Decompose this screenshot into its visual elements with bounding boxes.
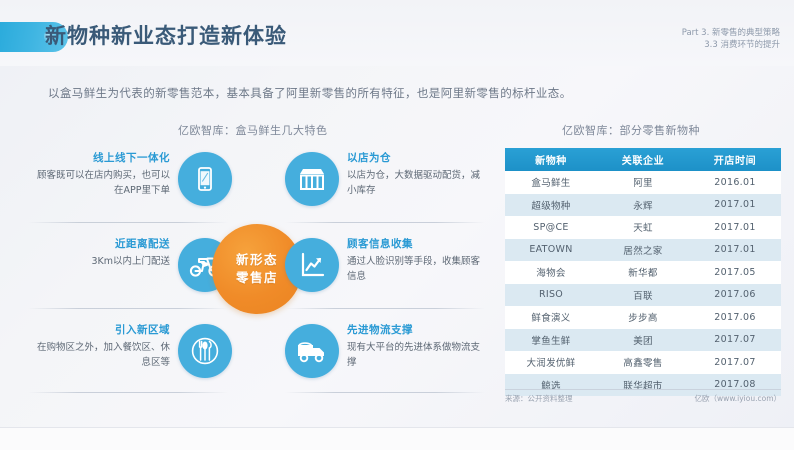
table-cell: EATOWN <box>505 239 597 262</box>
center-line-1: 新形态 <box>236 251 278 269</box>
chart-growth-icon <box>285 238 339 292</box>
table-row: 盒马鲜生阿里2016.01 <box>505 171 781 194</box>
feature-desc-new-zone: 在购物区之外，加入餐饮区、休息区等 <box>28 341 170 370</box>
feature-desc-online-offline: 顾客既可以在店内购买，也可以在APP里下单 <box>28 169 170 198</box>
storefront-icon <box>285 152 339 206</box>
table-cell: 2017.06 <box>689 306 781 329</box>
table-cell: 大润发优鲜 <box>505 351 597 374</box>
table-row: 海物会新华都2017.05 <box>505 261 781 284</box>
slide-canvas: 新物种新业态打造新体验 Part 3. 新零售的典型策略 3.3 消费环节的提升… <box>0 0 794 450</box>
table-cell: 步步高 <box>597 306 689 329</box>
truck-icon <box>285 324 339 378</box>
table-row: RISO百联2017.06 <box>505 284 781 307</box>
divider-left-2 <box>28 308 228 309</box>
cutlery-icon <box>178 324 232 378</box>
feature-text-store-as-warehouse: 以店为仓 以店为仓，大数据驱动配货，减小库存 <box>347 150 489 198</box>
table-cell: 2017.07 <box>689 351 781 374</box>
divider-right-1 <box>285 222 485 223</box>
table-cell: 2016.01 <box>689 171 781 194</box>
table-cell: 高鑫零售 <box>597 351 689 374</box>
table-cell: 2017.01 <box>689 194 781 217</box>
divider-right-3 <box>285 392 485 393</box>
table-row: 超级物种永辉2017.01 <box>505 194 781 217</box>
smartphone-icon <box>178 152 232 206</box>
slide-header: 新物种新业态打造新体验 Part 3. 新零售的典型策略 3.3 消费环节的提升 <box>0 0 794 66</box>
table-header-opening-date: 开店时间 <box>689 148 781 171</box>
feature-desc-store-as-warehouse: 以店为仓，大数据驱动配货，减小库存 <box>347 169 489 198</box>
feature-title-customer-data: 顾客信息收集 <box>347 236 489 251</box>
table-cell: 超级物种 <box>505 194 597 217</box>
table-row: SP@CE天虹2017.01 <box>505 216 781 239</box>
table-head: 新物种 关联企业 开店时间 <box>505 148 781 171</box>
intro-paragraph: 以盒马鲜生为代表的新零售范本，基本具备了阿里新零售的所有特征，也是阿里新零售的标… <box>48 85 572 101</box>
feature-desc-logistics: 现有大平台的先进体系做物流支撑 <box>347 341 489 370</box>
table-row: EATOWN居然之家2017.01 <box>505 239 781 262</box>
table-cell: 2017.06 <box>689 284 781 307</box>
header-part-line: Part 3. 新零售的典型策略 <box>682 27 780 39</box>
table-cell: 永辉 <box>597 194 689 217</box>
table-row: 掌鱼生鲜美团2017.07 <box>505 329 781 352</box>
table-cell: 2017.05 <box>689 261 781 284</box>
feature-text-customer-data: 顾客信息收集 通过人脸识别等手段，收集顾客信息 <box>347 236 489 284</box>
header-meta: Part 3. 新零售的典型策略 3.3 消费环节的提升 <box>682 27 780 52</box>
feature-text-logistics: 先进物流支撑 现有大平台的先进体系做物流支撑 <box>347 322 489 370</box>
page-title: 新物种新业态打造新体验 <box>45 20 287 50</box>
new-species-table-wrapper: 新物种 关联企业 开店时间 盒马鲜生阿里2016.01超级物种永辉2017.01… <box>505 148 781 396</box>
table-cell: RISO <box>505 284 597 307</box>
table-cell: 2017.01 <box>689 239 781 262</box>
caption-right-table: 亿欧智库：部分零售新物种 <box>562 122 700 138</box>
table-cell: 新华都 <box>597 261 689 284</box>
divider-left-3 <box>28 392 228 393</box>
bottom-strip <box>0 427 794 450</box>
feature-title-online-offline: 线上线下一体化 <box>28 150 170 165</box>
table-cell: 天虹 <box>597 216 689 239</box>
table-source-label: 来源：公开资料整理 <box>505 393 573 404</box>
table-header-company: 关联企业 <box>597 148 689 171</box>
table-cell: 掌鱼生鲜 <box>505 329 597 352</box>
table-footer: 来源：公开资料整理 亿欧（www.iyiou.com） <box>505 389 781 404</box>
table-cell: 海物会 <box>505 261 597 284</box>
table-cell: SP@CE <box>505 216 597 239</box>
table-header-row: 新物种 关联企业 开店时间 <box>505 148 781 171</box>
divider-right-2 <box>285 308 485 309</box>
table-cell: 阿里 <box>597 171 689 194</box>
table-cell: 鲜食演义 <box>505 306 597 329</box>
new-species-table: 新物种 关联企业 开店时间 盒马鲜生阿里2016.01超级物种永辉2017.01… <box>505 148 781 396</box>
feature-diagram: 线上线下一体化 顾客既可以在店内购买，也可以在APP里下单 近距离配送 3Km以… <box>20 142 490 407</box>
feature-desc-customer-data: 通过人脸识别等手段，收集顾客信息 <box>347 255 489 284</box>
table-row: 大润发优鲜高鑫零售2017.07 <box>505 351 781 374</box>
divider-left-1 <box>28 222 228 223</box>
center-line-2: 零售店 <box>236 269 278 287</box>
feature-text-new-zone: 引入新区域 在购物区之外，加入餐饮区、休息区等 <box>28 322 170 370</box>
table-cell: 2017.07 <box>689 329 781 352</box>
table-cell: 美团 <box>597 329 689 352</box>
table-cell: 盒马鲜生 <box>505 171 597 194</box>
feature-title-delivery: 近距离配送 <box>28 236 170 251</box>
feature-text-online-offline: 线上线下一体化 顾客既可以在店内购买，也可以在APP里下单 <box>28 150 170 198</box>
table-brand-label: 亿欧（www.iyiou.com） <box>695 393 781 404</box>
feature-title-new-zone: 引入新区域 <box>28 322 170 337</box>
table-header-species: 新物种 <box>505 148 597 171</box>
feature-title-store-as-warehouse: 以店为仓 <box>347 150 489 165</box>
feature-desc-delivery: 3Km以内上门配送 <box>28 255 170 270</box>
caption-left-diagram: 亿欧智库：盒马鲜生几大特色 <box>178 122 328 138</box>
header-section-line: 3.3 消费环节的提升 <box>682 39 780 51</box>
table-cell: 百联 <box>597 284 689 307</box>
feature-title-logistics: 先进物流支撑 <box>347 322 489 337</box>
feature-text-delivery: 近距离配送 3Km以内上门配送 <box>28 236 170 270</box>
table-cell: 居然之家 <box>597 239 689 262</box>
table-cell: 2017.01 <box>689 216 781 239</box>
table-body: 盒马鲜生阿里2016.01超级物种永辉2017.01SP@CE天虹2017.01… <box>505 171 781 396</box>
table-row: 鲜食演义步步高2017.06 <box>505 306 781 329</box>
